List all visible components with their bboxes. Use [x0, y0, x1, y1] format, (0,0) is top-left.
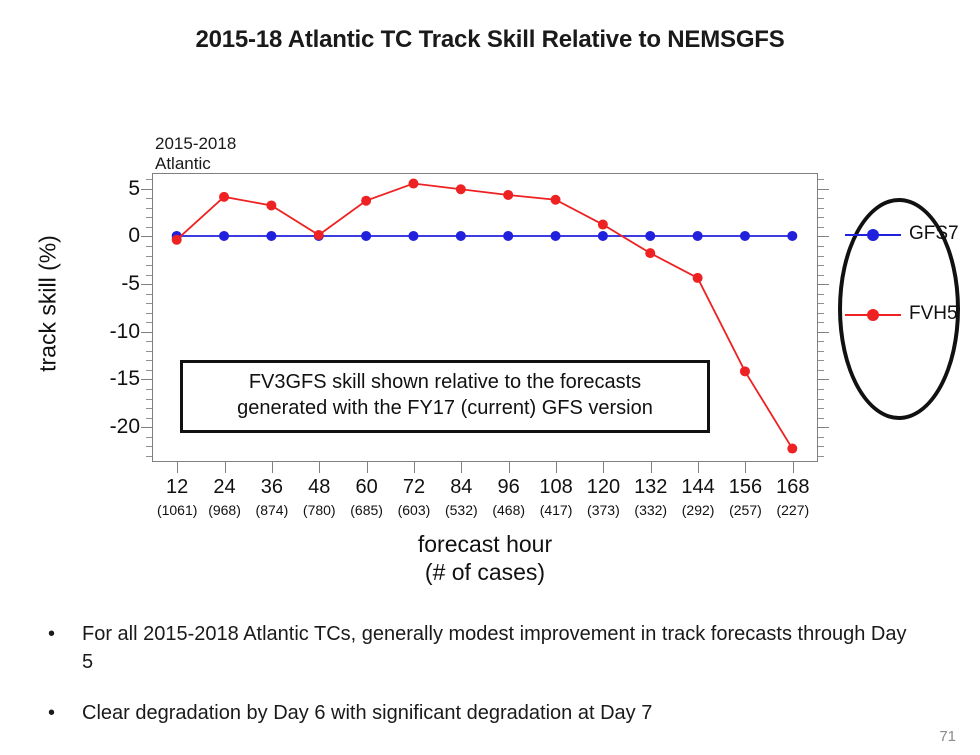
y-tick-mark-right: [818, 236, 829, 237]
y-tick-mark-right: [818, 427, 829, 428]
y-tick-label: -15: [96, 367, 140, 391]
x-tick-mark: [367, 462, 368, 473]
y-tick-mark: [141, 427, 152, 428]
y-axis-tick-labels: 50-5-10-15-20: [96, 110, 140, 610]
y-minor-tick-mark-right: [818, 456, 824, 457]
y-minor-tick-mark-right: [818, 227, 824, 228]
y-tick-label: -10: [96, 320, 140, 344]
x-tick-mark: [225, 462, 226, 473]
data-point: [314, 230, 324, 240]
y-minor-tick-mark-right: [818, 265, 824, 266]
y-minor-tick-mark-right: [818, 437, 824, 438]
bullet-text: Clear degradation by Day 6 with signific…: [82, 702, 652, 724]
y-minor-tick-mark-right: [818, 322, 824, 323]
x-tick-mark: [651, 462, 652, 473]
y-tick-mark: [141, 379, 152, 380]
bullet-item: •Clear degradation by Day 6 with signifi…: [40, 699, 910, 727]
y-tick-mark: [141, 236, 152, 237]
y-tick-mark: [141, 189, 152, 190]
y-minor-tick-mark-right: [818, 217, 824, 218]
data-point: [693, 231, 703, 241]
y-minor-tick-mark-right: [818, 179, 824, 180]
y-tick-mark-right: [818, 379, 829, 380]
y-minor-tick-mark-right: [818, 303, 824, 304]
data-point: [266, 231, 276, 241]
legend-marker-dot: [867, 229, 879, 241]
series-gfs7: [172, 231, 798, 241]
chart-annotation-box: FV3GFS skill shown relative to the forec…: [180, 360, 710, 433]
y-tick-mark: [141, 284, 152, 285]
y-minor-tick-mark-right: [818, 408, 824, 409]
bullet-list: •For all 2015-2018 Atlantic TCs, general…: [40, 620, 910, 749]
page-title: 2015-18 Atlantic TC Track Skill Relative…: [0, 26, 980, 54]
x-tick-mark: [698, 462, 699, 473]
data-point: [172, 235, 182, 245]
y-minor-tick-mark-right: [818, 208, 824, 209]
data-point: [361, 196, 371, 206]
x-tick-mark: [793, 462, 794, 473]
y-minor-tick-mark-right: [818, 446, 824, 447]
y-tick-mark-right: [818, 332, 829, 333]
legend-item-fvh5[interactable]: FVH5: [845, 300, 965, 330]
y-minor-tick-mark-right: [818, 198, 824, 199]
y-tick-mark: [141, 332, 152, 333]
y-tick-label: -20: [96, 415, 140, 439]
y-tick-label: 0: [96, 224, 140, 248]
y-tick-mark-right: [818, 284, 829, 285]
y-minor-tick-mark-right: [818, 351, 824, 352]
y-minor-tick-mark-right: [818, 370, 824, 371]
y-minor-tick-mark-right: [818, 313, 824, 314]
x-case-count-label: (227): [758, 502, 828, 518]
data-point: [456, 231, 466, 241]
y-minor-tick-mark-right: [818, 360, 824, 361]
data-point: [408, 231, 418, 241]
y-tick-mark-right: [818, 189, 829, 190]
x-tick-mark: [603, 462, 604, 473]
data-point: [503, 231, 513, 241]
y-minor-tick-mark-right: [818, 418, 824, 419]
y-minor-tick-mark-right: [818, 256, 824, 257]
x-tick-mark: [177, 462, 178, 473]
page-number: 71: [939, 728, 956, 745]
y-minor-tick-mark-right: [818, 389, 824, 390]
data-point: [693, 273, 703, 283]
y-minor-tick-mark-right: [818, 341, 824, 342]
x-tick-mark: [509, 462, 510, 473]
data-point: [219, 192, 229, 202]
y-tick-label: 5: [96, 177, 140, 201]
x-tick-mark: [272, 462, 273, 473]
x-tick-mark: [745, 462, 746, 473]
x-tick-mark: [414, 462, 415, 473]
data-point: [740, 231, 750, 241]
y-minor-tick-mark-right: [818, 275, 824, 276]
x-tick-mark: [461, 462, 462, 473]
data-point: [456, 184, 466, 194]
y-axis-title: track skill (%): [35, 194, 62, 414]
bullet-text: For all 2015-2018 Atlantic TCs, generall…: [82, 623, 906, 673]
x-tick-mark: [319, 462, 320, 473]
legend-item-gfs7[interactable]: GFS7: [845, 220, 965, 250]
bullet-marker-icon: •: [48, 620, 55, 648]
x-axis-title: forecast hour (# of cases): [290, 530, 680, 586]
data-point: [219, 231, 229, 241]
data-point: [787, 231, 797, 241]
y-tick-label: -5: [96, 272, 140, 296]
chart-legend: GFS7FVH5: [845, 220, 965, 380]
x-tick-mark: [556, 462, 557, 473]
legend-marker-dot: [867, 309, 879, 321]
data-point: [598, 220, 608, 230]
data-point: [645, 248, 655, 258]
data-point: [645, 231, 655, 241]
y-minor-tick-mark-right: [818, 399, 824, 400]
data-point: [598, 231, 608, 241]
legend-label: GFS7: [909, 223, 959, 245]
data-point: [503, 190, 513, 200]
y-minor-tick-mark-right: [818, 246, 824, 247]
data-point: [551, 195, 561, 205]
data-point: [266, 200, 276, 210]
chart-figure: 2015-2018 Atlantic track skill (%) 50-5-…: [0, 110, 980, 610]
data-point: [551, 231, 561, 241]
data-point: [740, 366, 750, 376]
y-minor-tick-mark-right: [818, 294, 824, 295]
data-point: [361, 231, 371, 241]
bullet-item: •For all 2015-2018 Atlantic TCs, general…: [40, 620, 910, 677]
bullet-marker-icon: •: [48, 699, 55, 727]
x-tick-label: 168: [758, 476, 828, 499]
data-point: [408, 179, 418, 189]
data-point: [787, 444, 797, 454]
chart-title: 2015-2018 Atlantic: [155, 134, 236, 174]
legend-label: FVH5: [909, 303, 958, 325]
